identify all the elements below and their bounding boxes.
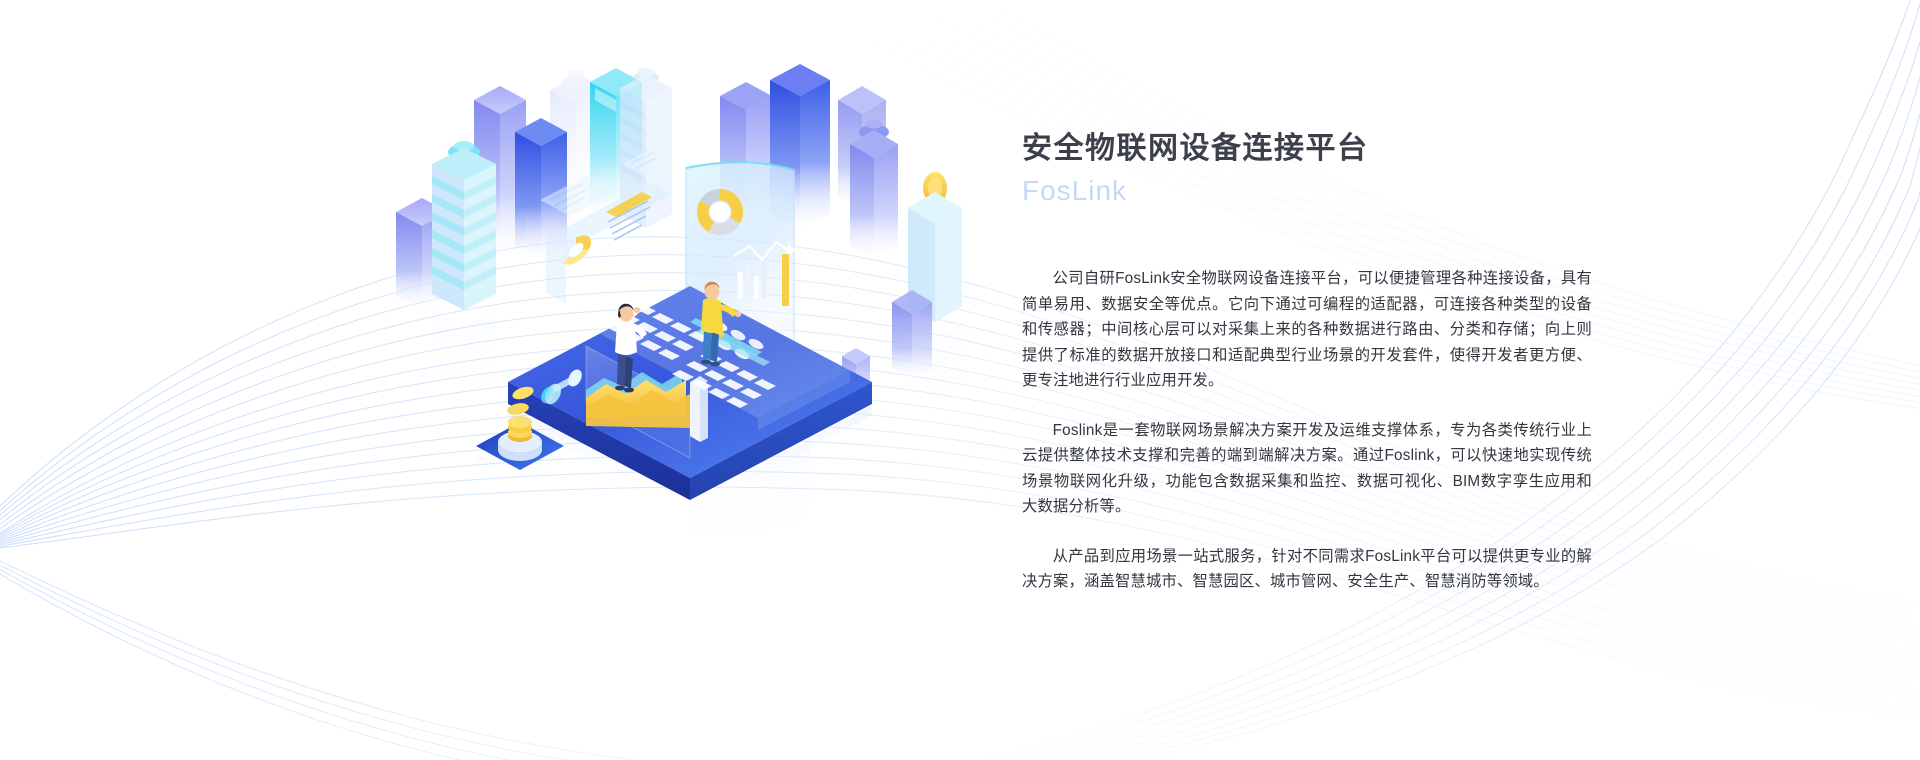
hero-text-column: 安全物联网设备连接平台 FosLink 公司自研FosLink安全物联网设备连接… [1022,130,1592,595]
wave-group-lower-left [0,556,1060,760]
description-block: 公司自研FosLink安全物联网设备连接平台，可以便捷管理各种连接设备，具有简单… [1022,266,1592,595]
data-platform-slab [508,282,872,500]
description-paragraph-2: Foslink是一套物联网场景解决方案开发及运维支撑体系，专为各类传统行业上云提… [1022,418,1592,520]
city-buildings-back [396,68,672,310]
page-title: 安全物联网设备连接平台 [1022,130,1592,168]
isometric-smart-city-illustration [390,60,990,560]
product-name-subtitle: FosLink [1022,172,1592,210]
description-paragraph-3: 从产品到应用场景一站式服务，针对不同需求FosLink平台可以提供更专业的解决方… [1022,544,1592,595]
tiered-tower-left [432,141,496,310]
description-paragraph-1: 公司自研FosLink安全物联网设备连接平台，可以便捷管理各种连接设备，具有简单… [1022,266,1592,394]
dome-tower-right [850,120,898,261]
pie-chart-screen [697,189,743,235]
page-root: 安全物联网设备连接平台 FosLink 公司自研FosLink安全物联网设备连接… [0,0,1920,760]
